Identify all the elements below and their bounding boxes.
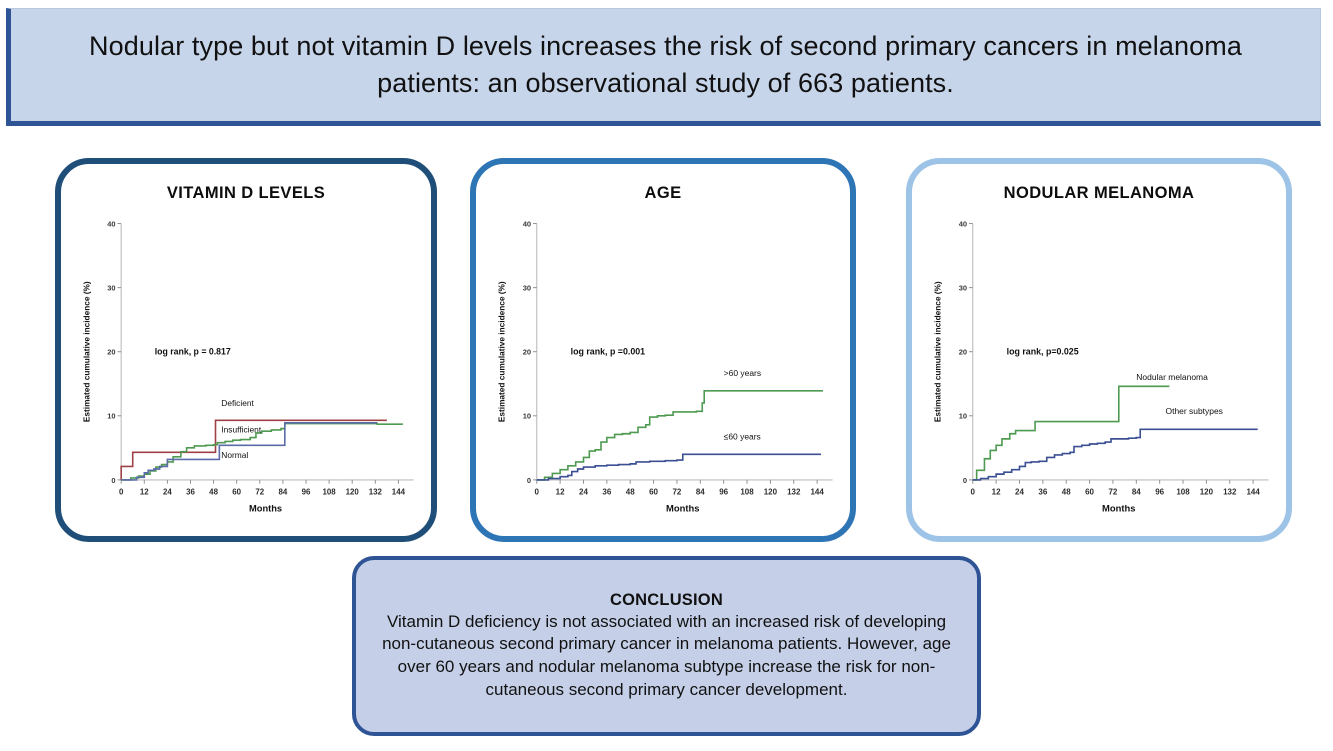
series-label-insufficient: Insufficient	[221, 424, 261, 434]
x-tick-label: 108	[322, 487, 336, 496]
x-tick-label: 12	[140, 487, 149, 496]
panel-title: NODULAR MELANOMA	[912, 184, 1286, 203]
y-axis-label: Estimated cumulative incidence (%)	[934, 281, 943, 422]
y-tick-label: 0	[527, 476, 531, 485]
y-tick-label: 40	[523, 219, 531, 228]
y-tick-label: 20	[523, 348, 531, 357]
y-tick-label: 40	[959, 219, 967, 228]
x-tick-label: 0	[535, 487, 540, 496]
y-axis-label: Estimated cumulative incidence (%)	[83, 281, 92, 422]
y-tick-label: 30	[107, 283, 115, 292]
series-label--60-years: >60 years	[724, 368, 761, 378]
page-title: Nodular type but not vitamin D levels in…	[71, 28, 1261, 103]
x-tick-label: 60	[649, 487, 658, 496]
x-tick-label: 12	[556, 487, 565, 496]
x-tick-label: 24	[579, 487, 588, 496]
series-label--60-years: ≤60 years	[724, 431, 761, 441]
x-tick-label: 72	[255, 487, 264, 496]
y-tick-label: 10	[959, 412, 967, 421]
y-axis-label: Estimated cumulative incidence (%)	[498, 281, 507, 422]
x-tick-label: 96	[302, 487, 311, 496]
conclusion-body: Vitamin D deficiency is not associated w…	[376, 611, 957, 701]
x-tick-label: 108	[1176, 487, 1190, 496]
conclusion-box: CONCLUSION Vitamin D deficiency is not a…	[352, 556, 981, 736]
x-tick-label: 0	[119, 487, 124, 496]
y-tick-label: 40	[107, 219, 115, 228]
x-tick-label: 120	[764, 487, 778, 496]
x-tick-label: 84	[696, 487, 705, 496]
x-tick-label: 144	[392, 487, 406, 496]
x-tick-label: 36	[1038, 487, 1047, 496]
x-tick-label: 36	[602, 487, 611, 496]
x-tick-label: 12	[992, 487, 1001, 496]
x-tick-label: 144	[1246, 487, 1260, 496]
x-tick-label: 108	[740, 487, 754, 496]
x-tick-label: 144	[810, 487, 824, 496]
x-tick-label: 72	[672, 487, 681, 496]
x-tick-label: 48	[209, 487, 218, 496]
x-tick-label: 72	[1108, 487, 1117, 496]
y-tick-label: 10	[107, 412, 115, 421]
y-tick-label: 20	[107, 348, 115, 357]
panel-vitamin-d-levels: VITAMIN D LEVELS 01020304001224364860728…	[55, 158, 437, 542]
x-tick-label: 24	[163, 487, 172, 496]
x-tick-label: 0	[971, 487, 976, 496]
x-tick-label: 120	[346, 487, 360, 496]
y-tick-label: 30	[523, 283, 531, 292]
y-tick-label: 20	[959, 348, 967, 357]
x-axis-label: Months	[249, 504, 282, 515]
x-tick-label: 120	[1200, 487, 1214, 496]
y-tick-label: 10	[523, 412, 531, 421]
panel-title: VITAMIN D LEVELS	[61, 184, 431, 203]
conclusion-heading: CONCLUSION	[610, 591, 723, 610]
x-tick-label: 48	[626, 487, 635, 496]
x-tick-label: 132	[787, 487, 801, 496]
y-tick-label: 0	[111, 476, 115, 485]
x-tick-label: 132	[369, 487, 383, 496]
x-tick-label: 60	[1085, 487, 1094, 496]
series-label-normal: Normal	[221, 450, 248, 460]
series-label-other-subtypes: Other subtypes	[1166, 406, 1223, 416]
x-tick-label: 84	[1132, 487, 1141, 496]
panel-title: AGE	[476, 184, 850, 203]
series-line--60-years	[537, 391, 823, 480]
series-line--60-years	[537, 454, 821, 480]
log-rank-annotation: log rank, p =0.001	[571, 347, 645, 357]
chart-age: 01020304001224364860728496108120132144Mo…	[484, 212, 842, 530]
log-rank-annotation: log rank, p=0.025	[1007, 347, 1079, 357]
series-line-other-subtypes	[973, 429, 1257, 480]
series-label-nodular-melanoma: Nodular melanoma	[1136, 372, 1208, 382]
x-tick-label: 84	[278, 487, 287, 496]
chart-nodular-melanoma: 01020304001224364860728496108120132144Mo…	[920, 212, 1278, 530]
x-tick-label: 96	[719, 487, 728, 496]
chart-svg-2: 01020304001224364860728496108120132144Mo…	[920, 212, 1278, 530]
panel-nodular-melanoma: NODULAR MELANOMA 01020304001224364860728…	[906, 158, 1292, 542]
x-tick-label: 60	[232, 487, 241, 496]
log-rank-annotation: log rank, p = 0.817	[155, 346, 231, 356]
chart-svg-1: 01020304001224364860728496108120132144Mo…	[484, 212, 842, 530]
x-tick-label: 48	[1062, 487, 1071, 496]
title-banner: Nodular type but not vitamin D levels in…	[6, 8, 1321, 126]
panel-age: AGE 010203040012243648607284961081201321…	[470, 158, 856, 542]
x-tick-label: 36	[186, 487, 195, 496]
y-tick-label: 30	[959, 283, 967, 292]
x-axis-label: Months	[666, 504, 699, 515]
chart-svg-0: 01020304001224364860728496108120132144Mo…	[69, 212, 423, 530]
x-tick-label: 132	[1223, 487, 1237, 496]
y-tick-label: 0	[963, 476, 967, 485]
x-axis-label: Months	[1102, 504, 1135, 515]
x-tick-label: 96	[1155, 487, 1164, 496]
chart-vitamin-d-levels: 01020304001224364860728496108120132144Mo…	[69, 212, 423, 530]
series-label-deficient: Deficient	[221, 398, 254, 408]
x-tick-label: 24	[1015, 487, 1024, 496]
